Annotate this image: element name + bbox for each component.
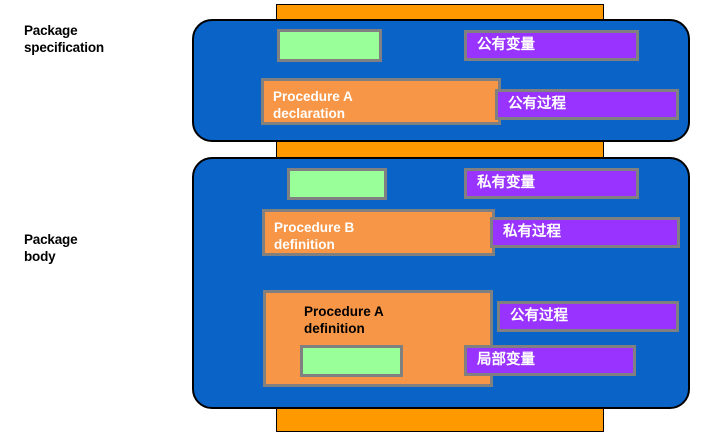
- spine-bar-bottom: [276, 406, 604, 432]
- label-package-body: Package body: [24, 231, 77, 265]
- body-public-procedure-tag: 公有过程: [497, 301, 679, 332]
- body-procedure-b-definition-box: Procedure B definition: [262, 209, 495, 256]
- body-private-variable-tag: 私有变量: [464, 168, 639, 199]
- body-private-variable-box: [287, 168, 387, 200]
- spec-public-variable-tag: 公有变量: [464, 30, 639, 61]
- label-package-specification: Package specification: [24, 22, 104, 56]
- body-private-procedure-tag: 私有过程: [490, 217, 680, 248]
- diagram-canvas: Package specification Package body 公有变量 …: [0, 0, 719, 440]
- spec-public-procedure-tag: 公有过程: [495, 89, 679, 120]
- spec-procedure-a-declaration-box: Procedure A declaration: [261, 78, 501, 125]
- spec-public-variable-box: [277, 29, 382, 62]
- body-local-variable-tag: 局部变量: [464, 345, 636, 376]
- body-local-variable-box: [300, 345, 403, 377]
